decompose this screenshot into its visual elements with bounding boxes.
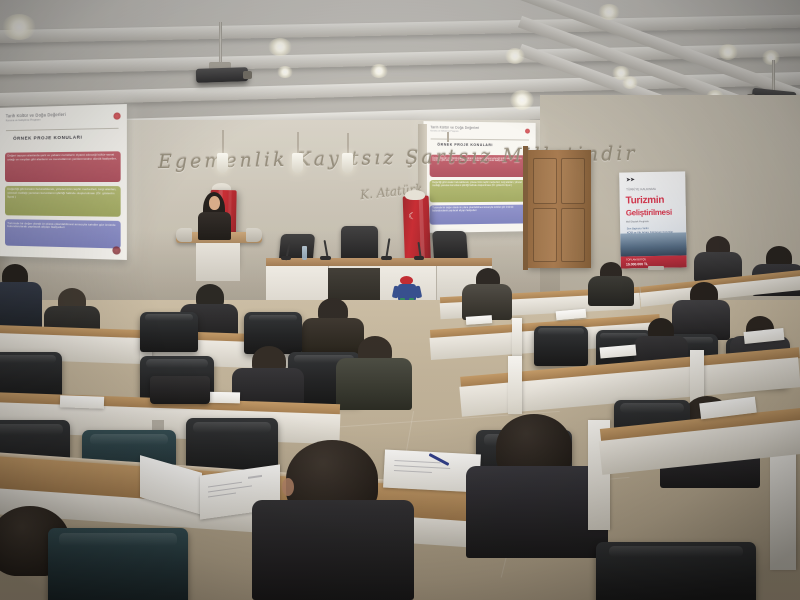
desk-divider — [508, 356, 522, 414]
desk-divider — [770, 440, 796, 570]
entrance-door[interactable] — [527, 150, 591, 268]
door-panel — [533, 158, 557, 204]
briefcase — [150, 376, 210, 404]
slide-header-sub: Koruma ve Geliştirme Programı — [430, 131, 529, 134]
speaker-head — [209, 196, 220, 210]
slide-divider — [6, 128, 119, 131]
paper-text-line — [394, 470, 432, 473]
attendee-shoulders — [336, 358, 412, 410]
audience-chair[interactable] — [48, 528, 188, 600]
attendee-shoulders — [466, 466, 608, 558]
downlight-icon — [268, 38, 292, 56]
banner-subtitle: Mali Destek Programı — [626, 220, 649, 223]
podium-body — [196, 243, 240, 281]
microphone-base — [381, 256, 392, 260]
podium-wing-right — [246, 228, 262, 242]
door-panel — [561, 158, 585, 204]
wall-sconce-light — [217, 153, 228, 173]
slide-box-green: Değerliği gibi kırsalın bulunabilecek, y… — [429, 180, 530, 202]
attendee-shoulders — [588, 276, 634, 306]
flag-finial — [405, 190, 425, 200]
wall-sconce-light — [292, 153, 303, 173]
slide-seal-icon — [112, 247, 120, 255]
downlight-icon — [598, 4, 620, 20]
slide-logo-icon — [113, 112, 120, 119]
podium-wing-left — [176, 228, 192, 242]
conference-hall-photo: Tarih Kültür ve Doğa Değerleri Koruma ve… — [0, 0, 800, 600]
crescent-star-icon: ☾ — [408, 212, 416, 221]
document-paper — [60, 395, 104, 409]
head-table-chair[interactable] — [341, 226, 378, 260]
projection-screen-left: Tarih Kültür ve Doğa Değerleri Koruma ve… — [0, 104, 127, 260]
downlight-icon — [622, 76, 638, 89]
attendee-ear — [282, 478, 294, 496]
paper-text-line — [394, 465, 450, 469]
audience-chair[interactable] — [534, 326, 588, 366]
head-table-chair[interactable] — [432, 231, 468, 259]
slide-box-green: Değerliği gibi kırsalın bulunabilecek, y… — [5, 186, 121, 217]
downlight-icon — [370, 64, 388, 78]
downlight-icon — [2, 14, 36, 40]
ceiling-band — [0, 13, 800, 44]
paper-text-line — [394, 460, 440, 463]
slide-box-red: Değeri taşıyan alanlarda şark ve yabancı… — [5, 151, 121, 182]
banner-bottom-label: TOPLAM BÜTÇE — [626, 258, 646, 261]
audience-chair[interactable] — [140, 312, 198, 352]
speaker-torso — [198, 212, 231, 240]
slide-header: Tarih Kültür ve Doğa Değerleri Koruma ve… — [430, 126, 529, 134]
door-frame — [523, 146, 528, 270]
microphone-base — [414, 256, 424, 260]
slide-box-blue: Turizmde bir değer olarak ön plana çıkar… — [5, 219, 121, 249]
downlight-icon — [718, 44, 738, 60]
paper-text-line — [248, 475, 262, 479]
sconce-rod — [447, 132, 449, 142]
roll-up-banner: ➤➤ TÜRKİYE KALKINMA Turizmin Geliştirilm… — [619, 171, 687, 268]
door-panel — [533, 208, 557, 262]
wall-sconce-light — [342, 153, 353, 173]
slide-logo-icon — [525, 128, 530, 133]
projector-lens-icon — [243, 71, 252, 79]
slide-title: ÖRNEK PROJE KONULARI — [13, 134, 82, 140]
downlight-icon — [510, 90, 534, 110]
projector-mount-rod — [772, 60, 775, 92]
attendee-shoulders — [252, 500, 414, 600]
slide-box-blue: Turizmde bir değer olarak ön plana çıkar… — [429, 204, 530, 225]
paper-text-line — [208, 493, 236, 498]
banner-title-line1: Turizmin — [626, 195, 665, 207]
microphone-base — [320, 256, 331, 260]
ceiling-projector — [196, 67, 248, 83]
banner-photo — [620, 233, 686, 257]
bird-icon: ➤➤ — [626, 176, 634, 183]
downlight-icon — [505, 48, 525, 64]
banner-bottom-date: 15.000.000 TL — [626, 262, 648, 266]
downlight-icon — [277, 66, 293, 78]
door-panel — [561, 208, 585, 262]
projection-screen-right: Tarih Kültür ve Doğa Değerleri Koruma ve… — [423, 121, 535, 233]
slide-divider — [430, 138, 529, 140]
water-bottle — [302, 246, 307, 260]
microphone-base — [281, 256, 291, 260]
sconce-rod — [347, 133, 349, 155]
desk-divider — [512, 318, 522, 358]
downlight-icon — [762, 50, 780, 65]
banner-title-line2: Geliştirilmesi — [626, 208, 672, 218]
audience-chair[interactable] — [596, 542, 756, 600]
banner-stand — [648, 266, 664, 270]
banner-pretitle: TÜRKİYE KALKINMA — [626, 187, 656, 192]
slide-header: Tarih Kültür ve Doğa Değerleri Koruma ve… — [6, 110, 119, 122]
